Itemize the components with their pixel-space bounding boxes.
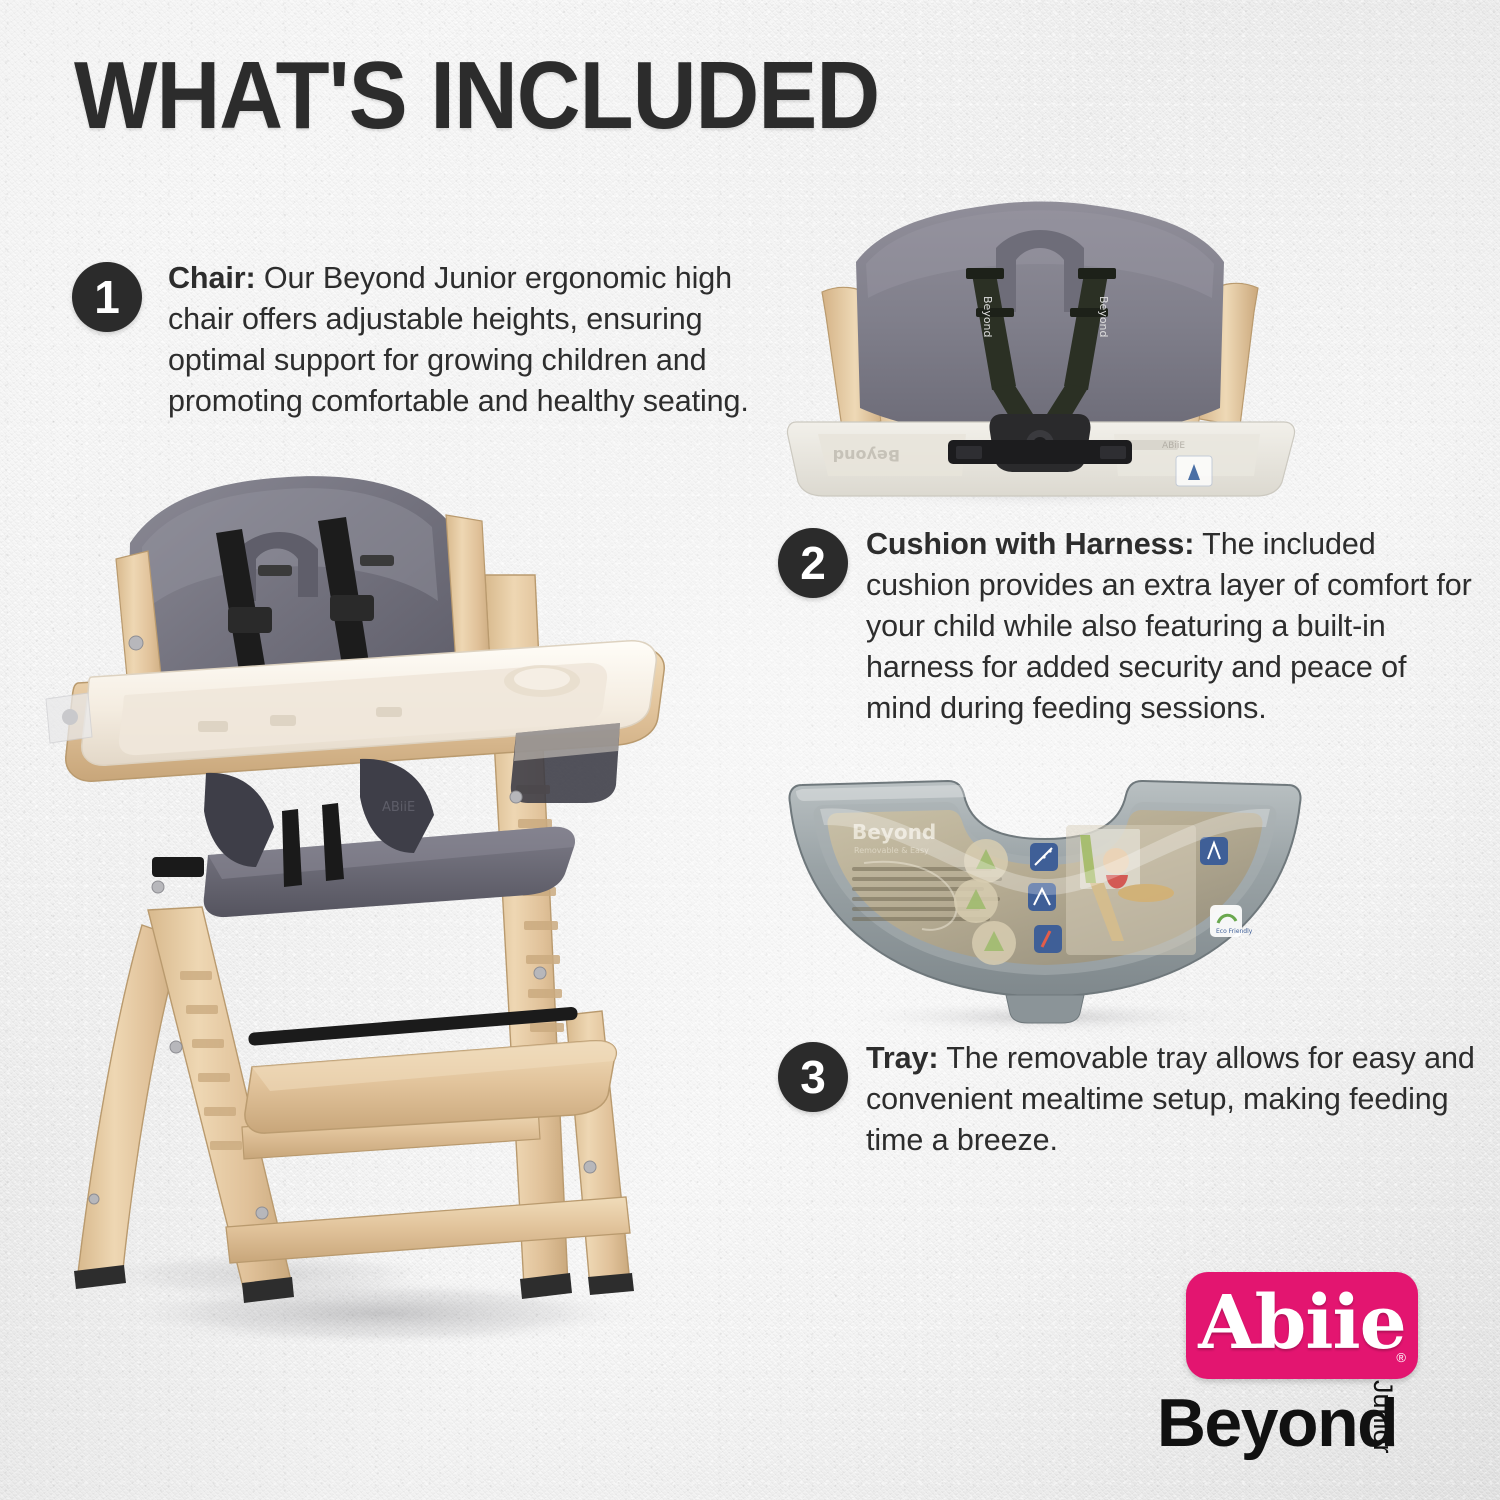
strap-label-right: Beyond [1097,296,1110,338]
step-number-badge-3: 3 [778,1042,848,1112]
step-number-badge-2: 2 [778,528,848,598]
item-2-text: Cushion with Harness: The included cushi… [866,524,1476,729]
abiie-wordmark: Abiie [1186,1272,1418,1379]
brand-logo: Abiie ® Beyond Junior [1148,1272,1448,1477]
infographic-page: WHAT'S INCLUDED [0,0,1500,1500]
item-1-lead: Chair: [168,261,256,295]
abiie-logo-badge: Abiie ® [1186,1272,1418,1379]
registered-trademark-icon: ® [1396,1350,1406,1365]
item-1-body: Our Beyond Junior ergonomic high chair o… [168,261,749,418]
removable-tray-photo: Beyond Removable & Easy [780,765,1310,1035]
svg-text:Beyond: Beyond [833,446,900,465]
high-chair-photo: ABiiE [30,455,690,1355]
item-1-text: Chair: Our Beyond Junior ergonomic high … [168,258,758,422]
junior-wordmark: Junior [1367,1380,1398,1454]
item-3-body: The removable tray allows for easy and c… [866,1041,1475,1157]
cushion-with-harness-photo: Beyond ABiiE Beyond Beyond [770,190,1310,510]
page-title: WHAT'S INCLUDED [74,48,879,144]
item-3-lead: Tray: [866,1041,938,1075]
item-3-text: Tray: The removable tray allows for easy… [866,1038,1476,1161]
step-number-badge-1: 1 [72,262,142,332]
strap-label-left: Beyond [981,296,994,338]
item-2-lead: Cushion with Harness: [866,527,1194,561]
svg-text:Eco Friendly: Eco Friendly [1216,928,1253,935]
svg-text:ABiiE: ABiiE [1162,441,1185,451]
svg-text:ABiiE: ABiiE [382,800,415,815]
